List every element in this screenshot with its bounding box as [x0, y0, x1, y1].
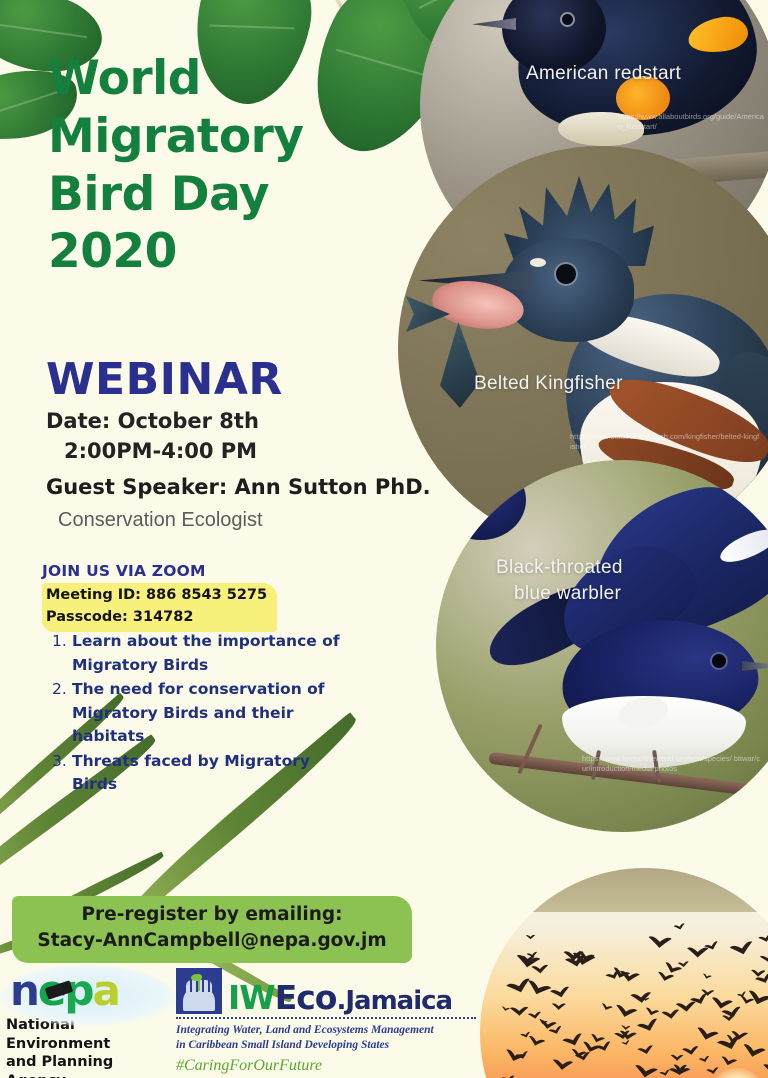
nepa-wordmark: nepa [4, 964, 174, 1012]
iweco-letters-jamaica: .Jamaica [336, 986, 452, 1016]
footer-logos: nepa National Environment and Planning A… [0, 962, 500, 1078]
iweco-hashtag: #CaringForOurFuture [176, 1057, 492, 1075]
agenda-list: 1. Learn about the importance of Migrato… [52, 630, 342, 798]
photo-caption-line-2: blue warbler [514, 582, 621, 605]
face-spot-shape [530, 258, 546, 267]
photo-credit: https://www.outdoorlifesearch.com/kingfi… [570, 432, 760, 452]
iweco-tagline-line-1: Integrating Water, Land and Ecosystems M… [176, 1023, 492, 1038]
title-line-3: Bird Day [48, 166, 428, 224]
nepa-logo: nepa National Environment and Planning A… [4, 964, 174, 1078]
list-item-number: 2. [52, 678, 72, 749]
list-item: 1. Learn about the importance of Migrato… [52, 630, 342, 677]
speaker-role: Conservation Ecologist [46, 509, 446, 532]
pre-register-email[interactable]: Stacy-AnnCampbell@nepa.gov.jm [22, 928, 402, 954]
title-line-1: World [48, 50, 428, 108]
poster-canvas: American redstart https://www.allaboutbi… [0, 0, 768, 1078]
page-title: World Migratory Bird Day 2020 [48, 50, 428, 281]
nepa-subtitle-line-2: and Planning Agency [6, 1053, 174, 1078]
divider [176, 1017, 476, 1019]
iweco-wordmark-row: IWEco.Jamaica [176, 968, 492, 1014]
title-line-4: 2020 [48, 223, 428, 281]
list-item-number: 1. [52, 630, 72, 677]
pre-register-label: Pre-register by emailing: [22, 902, 402, 928]
zoom-heading: JOIN US VIA ZOOM [42, 562, 372, 580]
bird-flock-icon [480, 868, 768, 1078]
list-item-number: 3. [52, 750, 72, 797]
photo-credit: https://www.allaboutbirds.org/guide/Amer… [618, 112, 768, 132]
iweco-wordmark: IWEco.Jamaica [228, 981, 452, 1014]
list-item-label: Learn about the importance of Migratory … [72, 630, 342, 677]
iweco-logo: IWEco.Jamaica Integrating Water, Land an… [176, 968, 492, 1075]
pre-registration-banner: Pre-register by emailing: Stacy-AnnCampb… [12, 896, 412, 963]
iweco-tagline-line-2: in Caribbean Small Island Developing Sta… [176, 1038, 492, 1053]
zoom-passcode[interactable]: Passcode: 314782 [46, 607, 267, 629]
nepa-letter-a: a [92, 966, 118, 1015]
photo-caption-line-1: Black-throated [496, 556, 623, 579]
list-item-label: The need for conservation of Migratory B… [72, 678, 342, 749]
hand-sprout-icon [176, 968, 222, 1014]
photo-black-throated-blue-warbler: Black-throated blue warbler https://www.… [436, 460, 768, 832]
iweco-tagline: Integrating Water, Land and Ecosystems M… [176, 1023, 492, 1054]
zoom-meeting-id[interactable]: Meeting ID: 886 8543 5275 [46, 585, 267, 607]
beak-shape [472, 18, 516, 30]
iweco-letters-iw: IW [228, 978, 275, 1017]
photo-caption: Belted Kingfisher [474, 372, 623, 395]
event-details: Date: October 8th 2:00PM-4:00 PM Guest S… [46, 406, 446, 532]
guest-speaker: Guest Speaker: Ann Sutton PhD. [46, 475, 446, 499]
list-item-label: Threats faced by Migratory Birds [72, 750, 342, 797]
photo-caption: American redstart [526, 62, 681, 85]
list-item: 2. The need for conservation of Migrator… [52, 678, 342, 749]
nepa-letter-n: n [10, 966, 38, 1015]
photo-credit: https://www.birdsoftheworld.org/bow/spec… [582, 754, 762, 774]
list-item: 3. Threats faced by Migratory Birds [52, 750, 342, 797]
event-date: Date: October 8th [46, 406, 446, 436]
title-line-2: Migratory [48, 108, 428, 166]
eye-shape [556, 264, 576, 284]
event-time: 2:00PM-4:00 PM [46, 436, 446, 466]
zoom-credentials-highlight: Meeting ID: 886 8543 5275 Passcode: 3147… [42, 583, 277, 632]
sprout-shape [193, 973, 205, 991]
event-type-heading: WEBINAR [46, 354, 283, 405]
eye-shape [560, 12, 575, 27]
zoom-details-block: JOIN US VIA ZOOM Meeting ID: 886 8543 52… [42, 562, 372, 632]
eye-shape [712, 654, 726, 668]
iweco-letters-eco: Eco [275, 978, 337, 1017]
photo-migrating-flock-sunset [480, 868, 768, 1078]
